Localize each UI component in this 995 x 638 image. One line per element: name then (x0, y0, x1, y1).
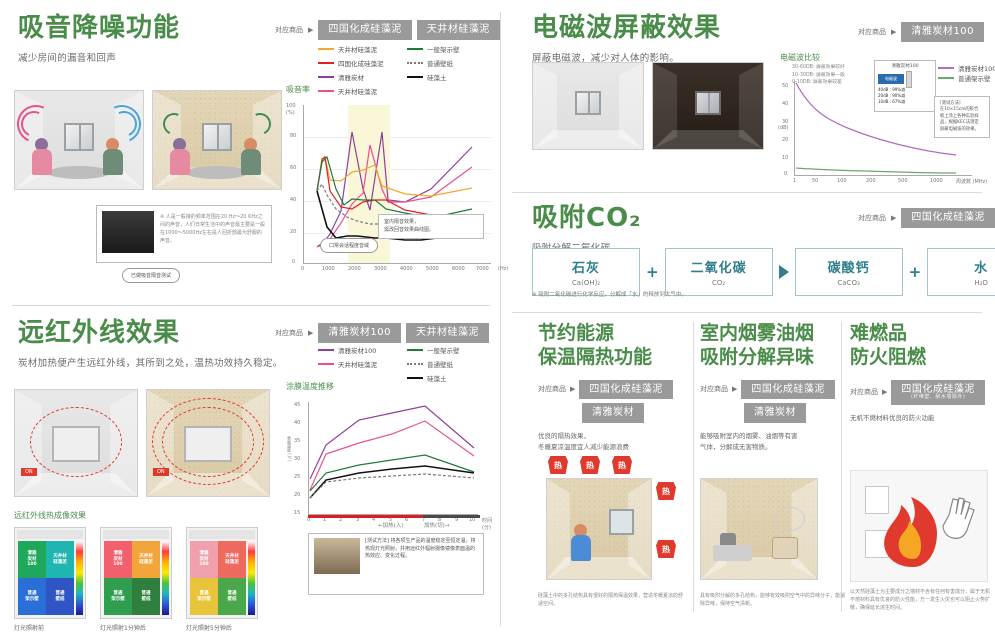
heat-arrow-icon: 热 (612, 456, 632, 474)
fire-illustration (850, 470, 988, 582)
legend-item: 普通壁纸 (407, 359, 496, 369)
heat-off-bar (423, 515, 480, 518)
sound-band-label: 口常会话程度音域 (320, 238, 378, 253)
fire-title: 难燃品 防火阻燃 (850, 322, 990, 370)
legend-label: 四国化成硅藻泥 (338, 58, 384, 68)
emi-device-label: 清雅炭材100 (875, 63, 935, 69)
legend-item: 四国化成硅藻泥 (318, 58, 407, 68)
legend-swatch-icon (407, 363, 423, 365)
sound-chart-callout: 室内隔音效果， 需改回音效果曲线图。 (378, 214, 484, 239)
thermal-cell: 清雅 炭材 100 (104, 541, 132, 578)
thermal-caption-1: 灯光照射1分钟后 (100, 623, 146, 632)
legend-swatch-icon (407, 349, 423, 351)
emi-room-before: 普通架示壁面 (532, 62, 644, 150)
eq-box-water: 水 H₂O (927, 248, 995, 296)
eq-plus-icon: + (646, 263, 659, 281)
chevron-right-icon: ▶ (732, 385, 737, 393)
infrared-chart-lines (286, 396, 494, 528)
eq-plus-icon: + (909, 263, 922, 281)
thermal-image-1: 清雅 炭材 100 天井材 硅藻泥 普通 架示壁 普通 壁纸 (100, 527, 172, 619)
infographic-page: 吸音降噪功能 减少房间的漏音和回声 对应商品 ▶ 四国化成硅藻泥 天井材硅藻泥 … (0, 0, 995, 638)
eq-name: 二氧化碳 (666, 257, 772, 276)
emi-room-after: 清雅炭材100墙面 (652, 62, 764, 150)
infrared-subtitle: 炭材加热便产生远红外线，其所到之处，温热功效持久稳定。 (18, 355, 283, 369)
thermal-cell: 天井材 硅藻泥 (218, 541, 246, 578)
energy-tagrow: 对应商品 ▶ 四国化成硅藻泥 清雅炭材 (538, 380, 686, 423)
panel-fire: 难燃品 防火阻燃 对应商品 ▶ 四国化成硅藻泥 (纤维壁、耐水墙除外) 无机不燃… (850, 322, 990, 424)
energy-title: 节约能源 保温隔热功能 (538, 322, 686, 370)
infrared-method-callout: [测试方法] 将各项生产品的温度稳定至恒定温，将热现灯光照射，并用远红外辐射摄像… (308, 533, 484, 595)
eq-formula: CO₂ (666, 279, 772, 287)
tag-energy-0[interactable]: 四国化成硅藻泥 (579, 380, 673, 400)
energy-footnote: 硅藻土中的多孔结构具有很好的隔热保温效果，营造冬暖夏凉的舒适空间。 (538, 592, 686, 608)
infrared-x-label: 时间 (分) (482, 517, 494, 531)
thermal-cell: 天井材 硅藻泥 (132, 541, 160, 578)
odor-illustration (700, 478, 818, 580)
thermal-quadrants: 清雅 炭材 100 天井材 硅藻泥 普通 架示壁 普通 壁纸 (104, 541, 160, 615)
tag-fire-sublabel: (纤维壁、耐水墙除外) (911, 395, 965, 401)
thermal-section: 远红外线热成像效果 (14, 510, 86, 521)
chevron-right-icon: ▶ (308, 26, 313, 34)
tag-co2-0[interactable]: 四国化成硅藻泥 (901, 208, 995, 228)
chevron-right-icon: ▶ (308, 329, 313, 337)
eq-name: 水 (928, 257, 995, 276)
legend-item: 一般架示壁 (407, 345, 496, 355)
sound-chart-title: 吸音率 (286, 84, 494, 95)
panel-energy: 节约能源 保温隔热功能 对应商品 ▶ 四国化成硅藻泥 清雅炭材 优良的隔热效果，… (538, 322, 686, 453)
chevron-right-icon: ▶ (891, 214, 896, 222)
thermal-image-2: 清雅 炭材 100 天井材 硅藻泥 普通 架示壁 普通 壁纸 (186, 527, 258, 619)
fire-desc: 无机不燃材料优良的防火功能 (850, 413, 990, 424)
fire-tagrow: 对应商品 ▶ 四国化成硅藻泥 (纤维壁、耐水墙除外) (850, 380, 990, 405)
chevron-right-icon: ▶ (570, 385, 575, 393)
infrared-chart-title: 涂膜温度推移 (286, 381, 494, 392)
tag-odor-1[interactable]: 清雅炭材 (744, 403, 806, 423)
energy-illustration (546, 478, 652, 580)
emi-wave-arrow: 电磁波 (878, 74, 904, 84)
sound-subtitle: 减少房间的漏音和回声 (18, 50, 180, 64)
legend-swatch-icon (938, 77, 954, 79)
sound-tag-lead: 对应商品 (275, 25, 303, 35)
legend-item: 清雅炭材100 (938, 63, 995, 73)
thermal-toolbar (103, 530, 169, 539)
legend-swatch-icon (318, 363, 334, 365)
sound-room-before: 普通壁纸房间 (14, 90, 144, 190)
odor-footnote: 具有吸附分解的多孔结构，能够有效吸附空气中的异味分子，能消除异味，保持空气清新。 (700, 592, 848, 608)
emi-scale-note: 30-60DB: 屏蔽效果较好 10-30DB: 屏蔽效果一般 0-10DB: … (792, 64, 878, 87)
thermal-color-scale (76, 541, 83, 615)
emi-panel-icon (906, 71, 912, 88)
panel-odor: 室内烟雾油烟 吸附分解异味 对应商品 ▶ 四国化成硅藻泥 清雅炭材 能够吸附室内… (700, 322, 848, 453)
heat-on-bar (308, 515, 423, 518)
on-badge: ON (21, 468, 37, 476)
tag-fire-0[interactable]: 四国化成硅藻泥 (纤维壁、耐水墙除外) (891, 380, 985, 405)
sound-footnote: ※ 人是一般接的频率范围在20 Hz～20 KHz之间的声音，人们日常生活中的声… (160, 213, 266, 245)
infrared-room-before: ON 普通架示壁面 (14, 389, 138, 497)
chevron-right-icon: ▶ (882, 388, 887, 396)
infrared-callout-text: [测试方法] 将各项生产品的温度稳定至恒定温，将热现灯光照射，并用远红外辐射摄像… (365, 538, 476, 559)
legend-label: 天井材硅藻泥 (338, 44, 377, 54)
sound-chart-lines (286, 99, 494, 277)
section-infrared: 远红外线效果 炭材加热便产生远红外线，其所到之处，温热功效持久稳定。 对应商品 … (0, 305, 500, 638)
hands-icon (851, 471, 988, 582)
sound-photo-caption: 已做吸音隔音测试 (122, 268, 180, 283)
emi-tagrow: 对应商品 ▶ 清雅炭材100 (858, 22, 984, 42)
sound-tagrow: 对应商品 ▶ 四国化成硅藻泥 天井材硅藻泥 (275, 20, 500, 40)
right-horizontal-divider (512, 312, 982, 313)
tag-sound-1[interactable]: 天井材硅藻泥 (417, 20, 500, 40)
infrared-tagrow: 对应商品 ▶ 清雅炭材100 天井材硅藻泥 (275, 323, 489, 343)
thermal-title: 远红外线热成像效果 (14, 510, 86, 521)
chevron-right-icon: ▶ (891, 28, 896, 36)
sound-test-photo (102, 211, 154, 253)
tag-sound-0[interactable]: 四国化成硅藻泥 (318, 20, 412, 40)
thermal-cell: 清雅 炭材 100 (18, 541, 46, 578)
infrared-chart: 涂膜温度推移 45 40 35 30 25 20 15 表面温度 (℃) (286, 381, 494, 528)
legend-label: 清雅炭材100 (338, 345, 376, 355)
odor-tagrow: 对应商品 ▶ 四国化成硅藻泥 清雅炭材 (700, 380, 848, 423)
infrared-header: 远红外线效果 炭材加热便产生远红外线，其所到之处，温热功效持久稳定。 (18, 319, 283, 369)
thermal-cell: 清雅 炭材 100 (190, 541, 218, 578)
legend-swatch-icon (407, 377, 423, 379)
heat-arrow-icon: 热 (580, 456, 600, 474)
legend-item: 清雅炭材 (318, 72, 407, 82)
legend-item: 一般架示壁 (407, 44, 496, 54)
thermal-cell: 天井材 硅藻泥 (46, 541, 74, 578)
eq-name: 石灰 (533, 257, 639, 276)
odor-tag-lead: 对应商品 (700, 384, 728, 394)
fire-footnote: 以天然硅藻土为主要成分之墙材不含有任何有害成分，属于无机不燃材料具有优良的防火性… (850, 588, 990, 612)
legend-swatch-icon (938, 67, 954, 69)
legend-item: 天井材硅藻泥 (318, 44, 407, 54)
co2-title: 吸附CO₂ (532, 204, 642, 233)
tag-infrared-0[interactable]: 清雅炭材100 (318, 323, 401, 343)
tag-infrared-1[interactable]: 天井材硅藻泥 (406, 323, 489, 343)
odor-title: 室内烟雾油烟 吸附分解异味 (700, 322, 848, 370)
infrared-title: 远红外线效果 (18, 319, 283, 348)
legend-swatch-icon (318, 349, 334, 351)
person-illustration (35, 138, 52, 175)
heat-arrow-icon: 热 (656, 540, 676, 558)
thermal-quadrants: 清雅 炭材 100 天井材 硅藻泥 普通 架示壁 普通 壁纸 (18, 541, 74, 615)
sound-room-after: 清雅炭材+天井材硅藻泥 (152, 90, 282, 190)
sound-title: 吸音降噪功能 (18, 14, 180, 43)
legend-label: 普通架示壁 (958, 73, 991, 83)
fire-tag-lead: 对应商品 (850, 387, 878, 397)
energy-desc: 优良的隔热效果， 冬暖夏凉温度宜人减少能源浪费 (538, 431, 686, 453)
legend-swatch-icon (318, 62, 334, 64)
eq-formula: H₂O (928, 279, 995, 287)
thermal-cell: 普通 壁纸 (46, 578, 74, 615)
legend-swatch-icon (318, 48, 334, 50)
legend-item: 普通壁纸 (407, 58, 496, 68)
odor-desc: 能够吸附室内的烟雾、油烟等有害 气体，分解成无害物质。 (700, 431, 848, 453)
emi-value-2: 10dB : 67%减 (878, 99, 905, 105)
emi-title: 电磁波屏蔽效果 (532, 14, 721, 43)
emi-header: 电磁波屏蔽效果 屏蔽电磁波，减少对人体的影响。 (532, 14, 721, 64)
sound-photo-callout: ※ 人是一般接的频率范围在20 Hz～20 KHz之间的声音，人们日常生活中的声… (96, 205, 272, 263)
eq-formula: Ca(OH)₂ (533, 279, 639, 287)
legend-label: 普通壁纸 (427, 58, 453, 68)
thermal-image-0: 清雅 炭材 100 天井材 硅藻泥 普通 架示壁 普通 壁纸 (14, 527, 86, 619)
infrared-room-after: ON 清雅炭材+天井材硅藻泥 (146, 389, 270, 497)
co2-equation: 石灰 Ca(OH)₂ + 二氧化碳 CO₂ 碳酸钙 CaCO₃ + 水 H₂O (532, 248, 995, 296)
heat-arrow-icon: 热 (656, 482, 676, 500)
thermal-toolbar (189, 530, 255, 539)
eq-box-co2: 二氧化碳 CO₂ (665, 248, 773, 296)
emi-method-note: [测试方法] 在10×15cm的胶合 板上涂上各种实验样 品，根据KEC法测定 … (934, 96, 990, 138)
legend-label: 硅藻土 (427, 72, 447, 82)
thermal-cell: 普通 壁纸 (218, 578, 246, 615)
on-badge: ON (153, 468, 169, 476)
heat-off-label: 加热(切)→ (424, 521, 449, 529)
co2-header: 吸附CO₂ 吸附分解二氧化碳 (532, 204, 642, 254)
thermal-color-scale (248, 541, 255, 615)
panel-divider-1 (693, 322, 694, 612)
co2-tag-lead: 对应商品 (858, 213, 886, 223)
infrared-tag-lead: 对应商品 (275, 328, 303, 338)
section-co2: 吸附CO₂ 吸附分解二氧化碳 对应商品 ▶ 四国化成硅藻泥 石灰 Ca(OH)₂… (500, 196, 995, 304)
heat-arrow-icon: 热 (548, 456, 568, 474)
legend-swatch-icon (407, 76, 423, 78)
infrared-test-photo (314, 538, 360, 574)
eq-formula: CaCO₃ (796, 279, 902, 287)
legend-swatch-icon (407, 48, 423, 50)
emi-device-values: 40dB : 99%减 20dB : 90%减 10dB : 67%减 (878, 87, 905, 105)
legend-item: 清雅炭材100 (318, 345, 407, 355)
heat-on-label: ←加热(入) (378, 521, 403, 529)
eq-name: 碳酸钙 (796, 257, 902, 276)
thermal-caption-2: 灯光照射5分钟后 (186, 623, 232, 632)
tag-emi-0[interactable]: 清雅炭材100 (901, 22, 984, 42)
thermal-cell: 普通 壁纸 (132, 578, 160, 615)
eq-box-caco3: 碳酸钙 CaCO₃ (795, 248, 903, 296)
thermal-cell: 普通 架示壁 (190, 578, 218, 615)
legend-label: 一般架示壁 (427, 345, 460, 355)
person-illustration (574, 524, 591, 561)
legend-swatch-icon (318, 76, 334, 78)
emi-tag-lead: 对应商品 (858, 27, 886, 37)
thermal-toolbar (17, 530, 83, 539)
sound-header: 吸音降噪功能 减少房间的漏音和回声 (18, 14, 180, 64)
sound-chart: 吸音率 100 (%) 80 60 40 20 0 (286, 84, 494, 277)
co2-tagrow: 对应商品 ▶ 四国化成硅藻泥 (858, 208, 995, 228)
thermal-color-scale (162, 541, 169, 615)
tag-energy-1[interactable]: 清雅炭材 (582, 403, 644, 423)
emi-x-unit: 周波数 (MHz) (956, 178, 987, 185)
person-illustration (106, 138, 123, 175)
legend-label: 一般架示壁 (427, 44, 460, 54)
emi-device-diagram: 清雅炭材100 电磁波 40dB : 99%减 20dB : 90%减 10dB… (874, 60, 936, 112)
section-sound-absorption: 吸音降噪功能 减少房间的漏音和回声 对应商品 ▶ 四国化成硅藻泥 天井材硅藻泥 … (0, 0, 500, 305)
legend-swatch-icon (407, 62, 423, 64)
energy-tag-lead: 对应商品 (538, 384, 566, 394)
thermal-caption-0: 灯光照射前 (14, 623, 44, 632)
thermal-cell: 普通 架示壁 (104, 578, 132, 615)
legend-item: 天井材硅藻泥 (318, 359, 407, 369)
co2-note: ※ 吸附二氧化碳进行化学反应，分解成「水」的释放到大气中。 (532, 290, 687, 298)
legend-label: 天井材硅藻泥 (338, 359, 377, 369)
thermal-quadrants: 清雅 炭材 100 天井材 硅藻泥 普通 架示壁 普通 壁纸 (190, 541, 246, 615)
legend-item: 普通架示壁 (938, 73, 991, 83)
tag-odor-0[interactable]: 四国化成硅藻泥 (741, 380, 835, 400)
eq-box-lime: 石灰 Ca(OH)₂ (532, 248, 640, 296)
person-illustration (244, 138, 261, 175)
person-illustration (173, 138, 190, 175)
legend-item: 硅藻土 (407, 72, 496, 82)
legend-label: 清雅炭材100 (958, 63, 995, 73)
eq-arrow-icon (779, 265, 789, 279)
thermal-cell: 普通 架示壁 (18, 578, 46, 615)
legend-label: 普通壁纸 (427, 359, 453, 369)
legend-label: 清雅炭材 (338, 72, 364, 82)
